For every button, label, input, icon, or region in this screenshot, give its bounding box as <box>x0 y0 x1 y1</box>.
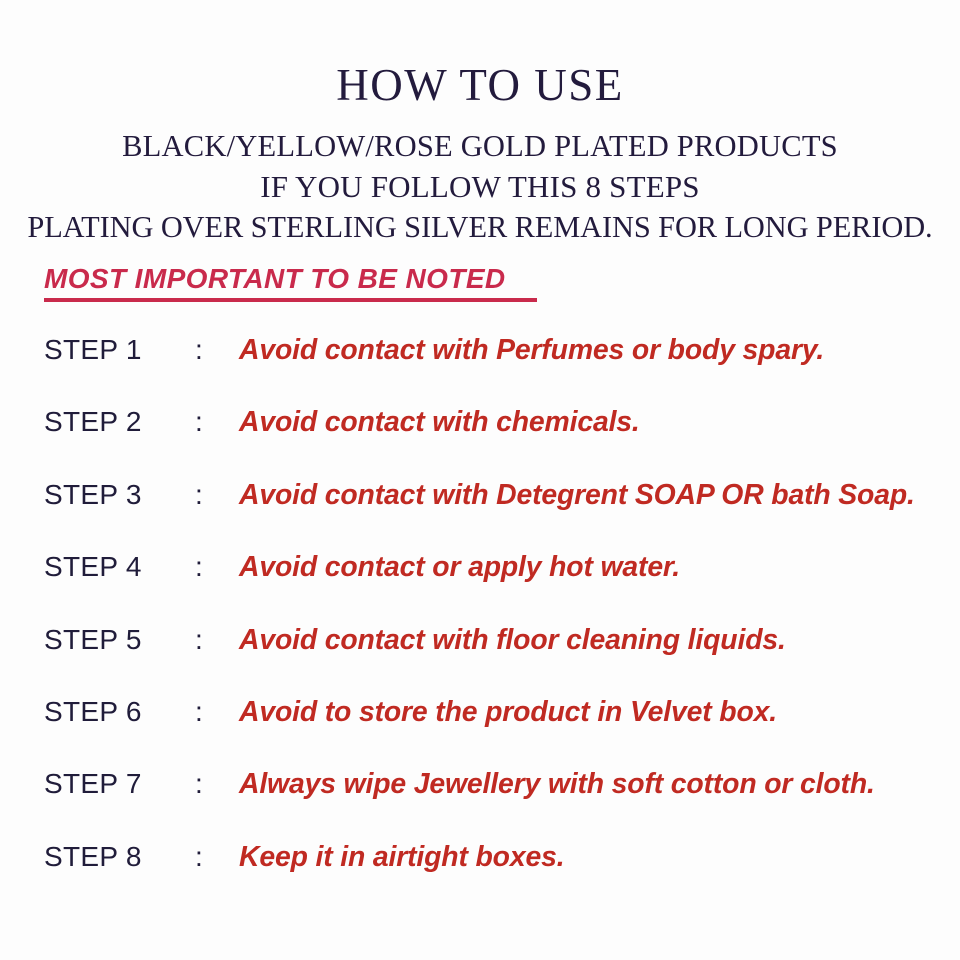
list-item: STEP 2 : Avoid contact with chemicals. <box>44 408 944 480</box>
step-separator: : <box>195 626 239 654</box>
step-text: Avoid to store the product in Velvet box… <box>239 698 777 727</box>
step-text: Avoid contact with chemicals. <box>239 408 640 437</box>
list-item: STEP 6 : Avoid to store the product in V… <box>44 698 944 770</box>
subtitle-line-3: PLATING OVER STERLING SILVER REMAINS FOR… <box>10 207 951 247</box>
how-to-use-poster: HOW TO USE BLACK/YELLOW/ROSE GOLD PLATED… <box>0 0 960 960</box>
step-text: Avoid contact with floor cleaning liquid… <box>239 626 786 655</box>
notice-underline <box>44 298 537 302</box>
subtitle-group: BLACK/YELLOW/ROSE GOLD PLATED PRODUCTS I… <box>0 109 960 247</box>
notice-heading: MOST IMPORTANT TO BE NOTED <box>44 264 537 302</box>
subtitle-line-2: IF YOU FOLLOW THIS 8 STEPS <box>0 167 960 207</box>
step-label: STEP 7 <box>44 770 195 798</box>
step-label: STEP 4 <box>44 553 195 581</box>
list-item: STEP 8 : Keep it in airtight boxes. <box>44 843 944 915</box>
step-separator: : <box>195 553 239 581</box>
step-label: STEP 8 <box>44 843 195 871</box>
step-separator: : <box>195 481 239 509</box>
step-text: Avoid contact or apply hot water. <box>239 553 680 582</box>
heading-block: HOW TO USE BLACK/YELLOW/ROSE GOLD PLATED… <box>0 0 960 247</box>
step-separator: : <box>195 336 239 364</box>
step-label: STEP 3 <box>44 481 195 509</box>
step-text: Always wipe Jewellery with soft cotton o… <box>239 770 875 799</box>
step-label: STEP 5 <box>44 626 195 654</box>
page-title: HOW TO USE <box>0 0 960 109</box>
step-label: STEP 6 <box>44 698 195 726</box>
subtitle-line-1: BLACK/YELLOW/ROSE GOLD PLATED PRODUCTS <box>7 126 953 166</box>
steps-list: STEP 1 : Avoid contact with Perfumes or … <box>44 336 944 915</box>
list-item: STEP 4 : Avoid contact or apply hot wate… <box>44 553 944 625</box>
step-separator: : <box>195 770 239 798</box>
step-label: STEP 2 <box>44 408 195 436</box>
step-label: STEP 1 <box>44 336 195 364</box>
step-separator: : <box>195 408 239 436</box>
list-item: STEP 3 : Avoid contact with Detegrent SO… <box>44 481 944 553</box>
step-separator: : <box>195 843 239 871</box>
notice-heading-label: MOST IMPORTANT TO BE NOTED <box>44 264 537 293</box>
step-separator: : <box>195 698 239 726</box>
step-text: Keep it in airtight boxes. <box>239 843 564 872</box>
list-item: STEP 1 : Avoid contact with Perfumes or … <box>44 336 944 408</box>
list-item: STEP 5 : Avoid contact with floor cleani… <box>44 626 944 698</box>
list-item: STEP 7 : Always wipe Jewellery with soft… <box>44 770 944 842</box>
step-text: Avoid contact with Perfumes or body spar… <box>239 336 824 365</box>
step-text: Avoid contact with Detegrent SOAP OR bat… <box>239 481 915 510</box>
